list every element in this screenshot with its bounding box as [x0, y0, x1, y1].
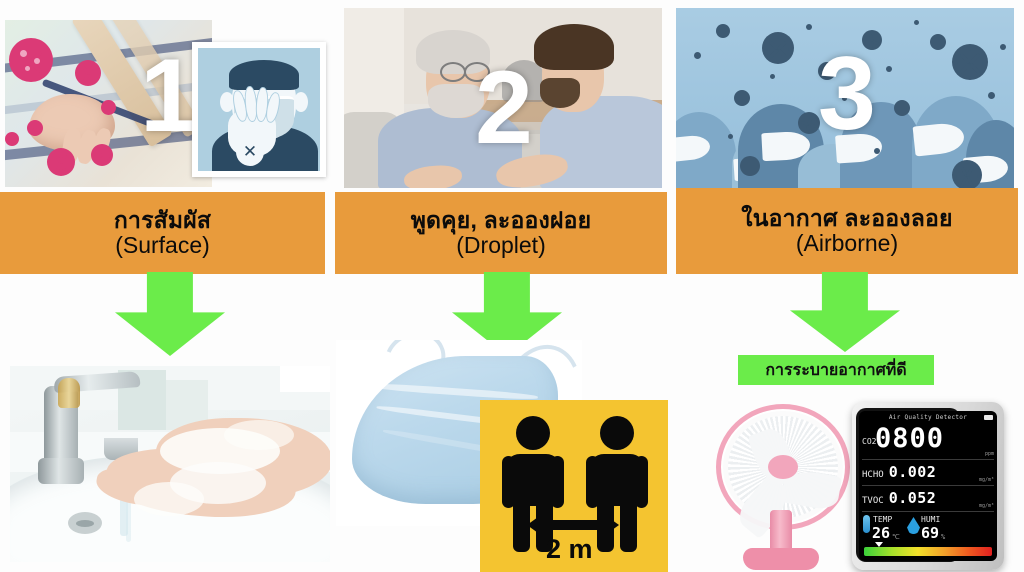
virus-particle — [716, 24, 730, 38]
temp-value: 26 — [872, 524, 890, 542]
hcho-row: HCHO 0.002 — [862, 463, 994, 481]
hcho-unit: mg/m³ — [979, 477, 994, 483]
virus-particle — [762, 32, 794, 64]
distance-label: 2 m — [546, 534, 593, 565]
tvoc-unit: mg/m³ — [979, 503, 994, 509]
virus-particle — [9, 38, 53, 82]
column-1-down-arrow — [115, 272, 225, 356]
column-3-caption-thai: ในอากาศ ละอองลอย — [741, 206, 952, 231]
thermometer-icon — [863, 515, 870, 533]
air-quality-detector: Air Quality Detector 0800 CO2 ppm HCHO 0… — [852, 402, 1004, 570]
tvoc-row: TVOC 0.052 — [862, 489, 994, 507]
virus-particle — [894, 100, 910, 116]
x-mark-icon: ✕ — [236, 138, 264, 166]
detector-title: Air Quality Detector — [859, 414, 997, 421]
virus-particle — [798, 112, 820, 134]
virus-particle — [930, 34, 946, 50]
co2-value: 0800 — [875, 423, 944, 454]
column-3-caption-english: (Airborne) — [796, 231, 898, 256]
virus-particle — [734, 90, 750, 106]
battery-icon — [984, 415, 993, 420]
distance-arrow-icon — [544, 520, 602, 530]
column-1-number: 1 — [140, 44, 198, 148]
infographic-canvas: 1 ✕ การสัมผัส (Surface) — [0, 0, 1024, 572]
hcho-value: 0.002 — [889, 463, 937, 481]
virus-particle — [5, 132, 19, 146]
virus-particle — [740, 156, 760, 176]
column-3-number: 3 — [818, 42, 876, 146]
temp-label: TEMP — [873, 515, 892, 524]
column-3-fan — [706, 398, 856, 570]
column-1-handwash-photo — [10, 366, 330, 562]
column-2-caption-thai: พูดคุย, ละอองฝอย — [411, 208, 592, 233]
column-2-number: 2 — [475, 56, 533, 160]
column-1-caption-english: (Surface) — [115, 233, 210, 258]
hcho-label: HCHO — [862, 470, 884, 480]
humi-value: 69 — [921, 524, 939, 542]
virus-particle — [952, 44, 988, 80]
do-not-touch-face-icon: ✕ — [192, 42, 326, 177]
virus-particle — [101, 100, 116, 115]
virus-particle — [75, 60, 101, 86]
virus-particle — [27, 120, 43, 136]
column-2-caption-english: (Droplet) — [456, 233, 545, 258]
air-quality-level-bar — [864, 547, 992, 556]
column-2-caption: พูดคุย, ละอองฝอย (Droplet) — [335, 192, 667, 274]
column-3-caption: ในอากาศ ละอองลอย (Airborne) — [676, 188, 1018, 274]
tvoc-value: 0.052 — [889, 489, 937, 507]
column-3-down-arrow — [790, 272, 900, 352]
social-distance-sign: 2 m — [480, 400, 668, 572]
virus-particle — [952, 160, 982, 188]
co2-unit: ppm — [985, 451, 994, 457]
humidity-drop-icon — [907, 517, 920, 534]
temp-unit: ℃ — [892, 533, 900, 541]
column-1-caption-thai: การสัมผัส — [114, 208, 211, 233]
column-1-caption: การสัมผัส (Surface) — [0, 192, 325, 274]
humi-label: HUMI — [921, 515, 940, 524]
virus-particle — [91, 144, 113, 166]
tvoc-label: TVOC — [862, 496, 884, 506]
ventilation-label: การระบายอากาศที่ดี — [738, 355, 934, 385]
virus-particle — [47, 148, 75, 176]
humi-unit: % — [941, 533, 945, 541]
co2-label: CO2 — [862, 437, 876, 446]
